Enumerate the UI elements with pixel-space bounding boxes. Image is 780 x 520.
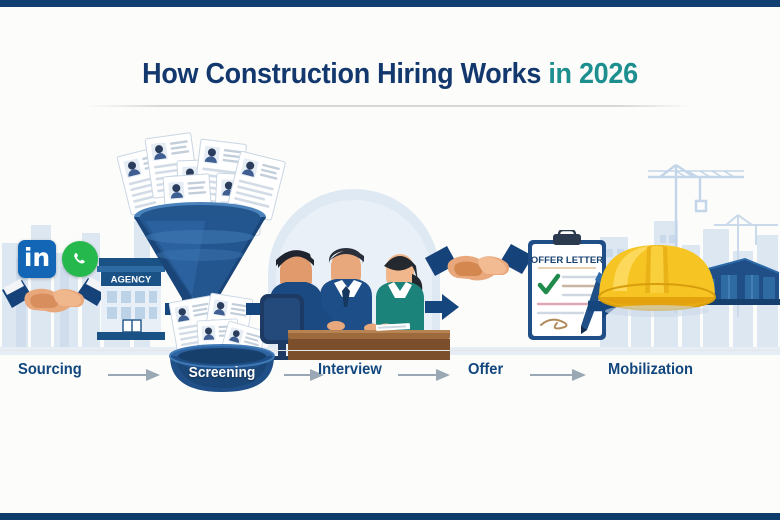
flow-arrow-3 [398, 368, 452, 382]
handshake-icon [2, 270, 108, 334]
stage-label-sourcing[interactable]: Sourcing [18, 361, 82, 379]
infographic-canvas: How Construction Hiring Works in 2026 [0, 0, 780, 520]
handshake-icon [425, 236, 533, 300]
offer-letter-title: OFFER LETTER [531, 255, 604, 266]
title-accent: in 2026 [541, 58, 638, 90]
stage-label-mobilization[interactable]: Mobilization [608, 361, 693, 379]
bowl-icon [168, 344, 276, 402]
stage-mobilization-illustration [595, 185, 780, 360]
flow-arrow-1 [108, 368, 162, 382]
bottom-rail [0, 513, 780, 520]
illustration-band: in [0, 125, 780, 355]
stage-offer-illustration: OFFER LETTER [425, 230, 610, 358]
stage-label-interview[interactable]: Interview [318, 361, 382, 379]
label-row-divider [0, 350, 780, 351]
title-divider [88, 105, 692, 107]
title-main: How Construction Hiring Works [142, 58, 541, 90]
hard-hat-icon [599, 245, 715, 310]
flow-arrow-4 [530, 368, 588, 382]
stage-label-offer[interactable]: Offer [468, 361, 503, 379]
page-title: How Construction Hiring Works in 2026 [0, 58, 780, 91]
stage-label-row: Sourcing Screening Interview Offer [0, 352, 780, 398]
top-rail [0, 0, 780, 7]
